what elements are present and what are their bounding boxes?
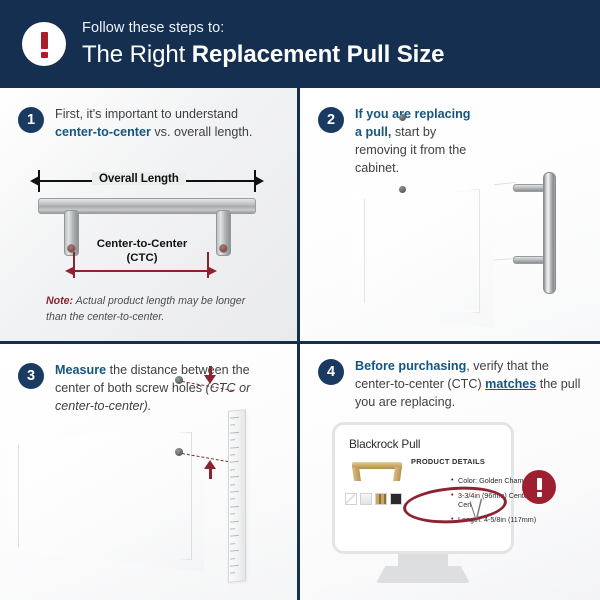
header-banner: Follow these steps to: The Right Replace…: [0, 0, 600, 88]
screw-hole-top: [399, 114, 406, 121]
door-inset-panel: [364, 189, 480, 313]
ctc-label-line1: Center-to-Center: [82, 238, 202, 252]
note-body: Actual product length may be longer than…: [46, 295, 245, 323]
step-3-text-a: Measure: [55, 363, 106, 377]
step-panel-2: 2 If you are replacing a pull, start by …: [300, 88, 600, 341]
door-inset-panel: [18, 432, 192, 560]
step-2-header: 2 If you are replacing a pull, start by …: [318, 106, 478, 178]
step-1-note: Note: Actual product length may be longe…: [46, 293, 258, 326]
ctc-label-line2: (CTC): [82, 252, 202, 266]
step-3-header: 3 Measure the distance between the cente…: [18, 362, 280, 416]
thumbnail-2[interactable]: [360, 493, 372, 505]
pull-post-right: [216, 210, 231, 256]
exclamation-circle-icon: [22, 22, 66, 66]
bar-pull-image: [543, 172, 556, 294]
ctc-label: Center-to-Center (CTC): [82, 238, 202, 266]
overall-length-label: Overall Length: [92, 172, 186, 185]
step-1-text-c: vs. overall length.: [151, 125, 253, 139]
thumbnail-3[interactable]: [375, 493, 387, 505]
step-number-2: 2: [318, 107, 344, 133]
step-1-text-a: First, it's important to understand: [55, 107, 238, 121]
infographic-poster: Follow these steps to: The Right Replace…: [0, 0, 600, 600]
step-number-1: 1: [18, 107, 44, 133]
step-1-text: First, it's important to understand cent…: [55, 106, 276, 142]
product-image: [347, 459, 407, 487]
monitor-illustration: Blackrock Pull PRODUCT DETAILS Color: Go…: [332, 422, 532, 590]
step-2-text: If you are replacing a pull, start by re…: [355, 106, 478, 178]
step-4-text: Before purchasing, verify that the cente…: [355, 358, 586, 412]
header-kicker: Follow these steps to:: [82, 21, 444, 36]
thumbnail-1[interactable]: [345, 493, 357, 505]
step-panel-3: 3 Measure the distance between the cente…: [0, 344, 297, 600]
note-prefix: Note:: [46, 295, 73, 307]
pull-post-left: [64, 210, 79, 256]
header-text-block: Follow these steps to: The Right Replace…: [82, 21, 444, 66]
pull-post-bottom: [513, 256, 545, 264]
step-panel-4: 4 Before purchasing, verify that the cen…: [300, 344, 600, 600]
monitor-neck: [398, 552, 448, 568]
thumbnail-4[interactable]: [390, 493, 402, 505]
steps-grid: 1 First, it's important to understand ce…: [0, 88, 600, 600]
step-number-3: 3: [18, 363, 44, 389]
title-bold: Replacement Pull Size: [192, 41, 445, 68]
product-page-screen: Blackrock Pull PRODUCT DETAILS Color: Go…: [332, 422, 514, 554]
ruler-icon: [228, 409, 246, 583]
exclamation-circle-icon: [522, 470, 556, 504]
screw-hole-right: [219, 244, 228, 253]
pull-dimension-diagram: Overall Length Center-to-Center (CTC): [30, 166, 266, 286]
pull-post-top: [513, 184, 545, 192]
screw-hole-bottom: [399, 186, 406, 193]
step-1-header: 1 First, it's important to understand ce…: [18, 106, 276, 142]
product-title: Blackrock Pull: [349, 437, 420, 451]
page-title: The Right Replacement Pull Size: [82, 42, 444, 67]
matches-link[interactable]: matches: [485, 377, 536, 391]
title-light: The Right: [82, 41, 192, 68]
cabinet-door-image: [352, 176, 494, 328]
ctc-arrow: [74, 270, 208, 272]
monitor-base: [376, 566, 470, 583]
step-4-header: 4 Before purchasing, verify that the cen…: [318, 358, 586, 412]
step-3-text: Measure the distance between the center …: [55, 362, 280, 416]
step-panel-1: 1 First, it's important to understand ce…: [0, 88, 297, 341]
step-number-4: 4: [318, 359, 344, 385]
product-thumbnail-strip[interactable]: [345, 493, 402, 505]
step-1-text-b: center-to-center: [55, 125, 151, 139]
step-4-text-a: Before purchasing: [355, 359, 466, 373]
product-details-heading: PRODUCT DETAILS: [411, 457, 485, 466]
cabinet-door-image: [8, 422, 204, 572]
